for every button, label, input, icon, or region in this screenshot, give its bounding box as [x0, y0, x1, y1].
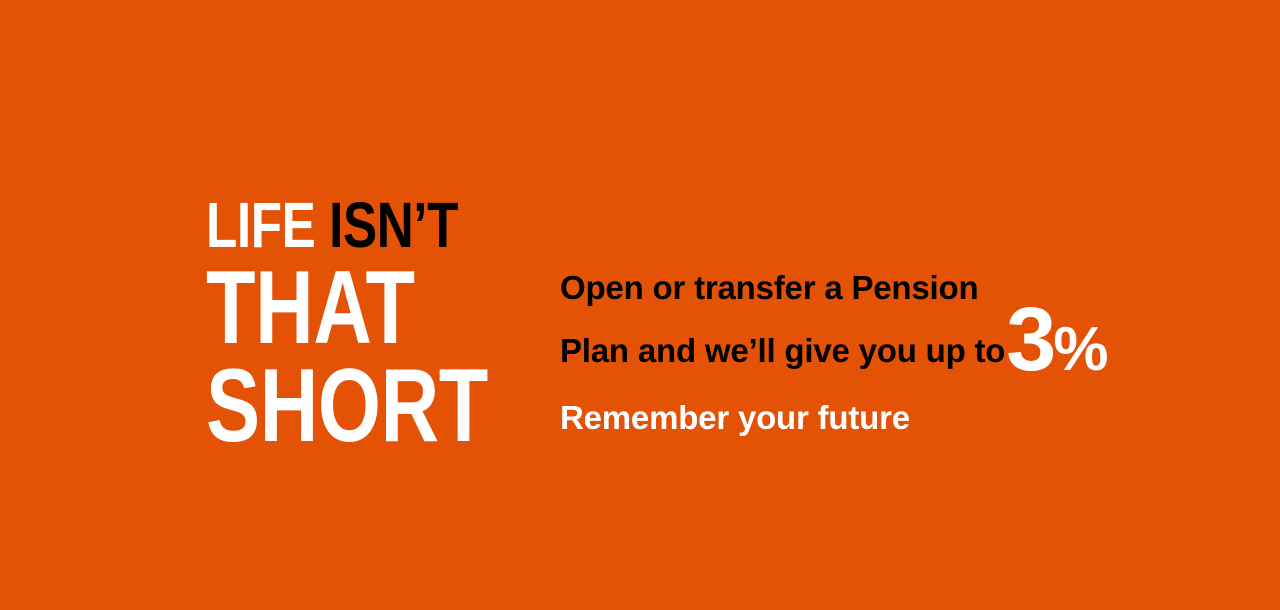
headline-line-1: LIFE ISN’T [206, 196, 470, 254]
promo-banner: LIFE ISN’T THAT SHORT Open or transfer a… [0, 0, 1280, 610]
headline-line-2: THAT [206, 260, 463, 356]
offer-rate-value: 3 [1006, 290, 1053, 390]
tagline: Remember your future [560, 398, 910, 438]
offer-line-1: Open or transfer a Pension [560, 266, 1160, 310]
offer-line-2: Plan and we’ll give you up to3% [560, 310, 1160, 373]
offer-line-2-text: Plan and we’ll give you up to [560, 329, 1005, 373]
offer-lines: Open or transfer a Pension Plan and we’l… [560, 266, 1160, 373]
headline-line-3: SHORT [206, 358, 463, 454]
offer-rate-symbol: % [1053, 315, 1107, 384]
headline: LIFE ISN’T THAT SHORT [206, 196, 536, 454]
offer-rate: 3% [1006, 318, 1107, 372]
offer-copy: Open or transfer a Pension Plan and we’l… [560, 266, 1160, 373]
